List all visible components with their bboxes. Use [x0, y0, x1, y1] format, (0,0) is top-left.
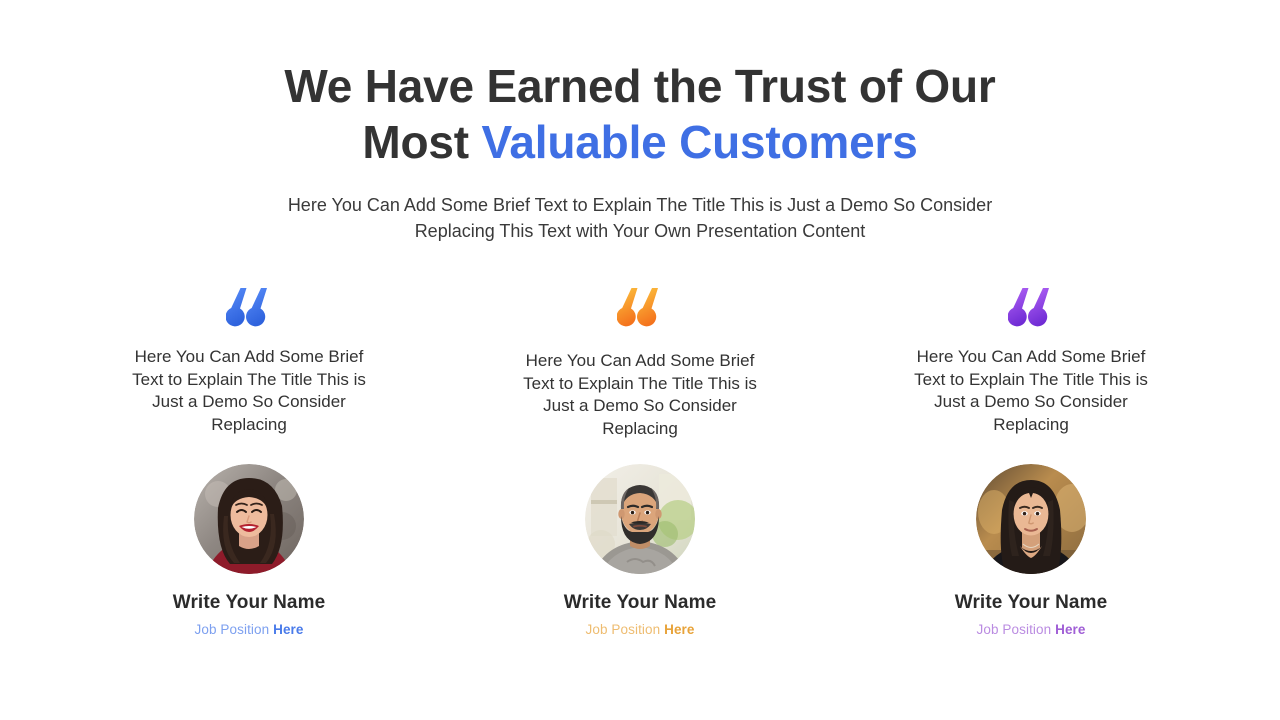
testimonial-card: Here You Can Add Some Brief Text to Expl… — [445, 288, 836, 637]
quote-mark-icon — [226, 288, 272, 328]
person-role: Job Position Here — [585, 622, 694, 637]
page-subtitle-line-1: Here You Can Add Some Brief Text to Expl… — [0, 192, 1280, 218]
person-role: Job Position Here — [194, 622, 303, 637]
person-name: Write Your Name — [955, 592, 1108, 614]
person-role: Job Position Here — [976, 622, 1085, 637]
slide-header: We Have Earned the Trust of Our Most Val… — [0, 58, 1280, 244]
person-name: Write Your Name — [564, 592, 717, 614]
page-title-accent: Valuable Customers — [481, 116, 917, 168]
person-role-strong: Here — [1055, 622, 1085, 637]
testimonial-quote: Here You Can Add Some Brief Text to Expl… — [900, 346, 1162, 436]
page-subtitle-line-2: Replacing This Text with Your Own Presen… — [0, 218, 1280, 244]
testimonial-card: Here You Can Add Some Brief Text to Expl… — [54, 288, 445, 637]
person-name: Write Your Name — [173, 592, 326, 614]
avatar — [585, 464, 695, 574]
page-title-plain: Most — [362, 116, 481, 168]
testimonial-list: Here You Can Add Some Brief Text to Expl… — [0, 288, 1280, 637]
person-role-soft: Job Position — [585, 622, 664, 637]
testimonials-slide: We Have Earned the Trust of Our Most Val… — [0, 0, 1280, 720]
quote-mark-icon — [1008, 288, 1054, 328]
person-role-strong: Here — [273, 622, 303, 637]
page-subtitle: Here You Can Add Some Brief Text to Expl… — [0, 192, 1280, 244]
page-title-line-1: We Have Earned the Trust of Our — [0, 58, 1280, 114]
testimonial-quote: Here You Can Add Some Brief Text to Expl… — [509, 350, 771, 440]
person-role-strong: Here — [664, 622, 694, 637]
avatar — [976, 464, 1086, 574]
testimonial-card: Here You Can Add Some Brief Text to Expl… — [836, 288, 1227, 637]
person-role-soft: Job Position — [976, 622, 1055, 637]
avatar — [194, 464, 304, 574]
page-title-line-2: Most Valuable Customers — [0, 114, 1280, 170]
quote-mark-icon — [617, 288, 663, 328]
testimonial-quote: Here You Can Add Some Brief Text to Expl… — [118, 346, 380, 436]
person-role-soft: Job Position — [194, 622, 273, 637]
